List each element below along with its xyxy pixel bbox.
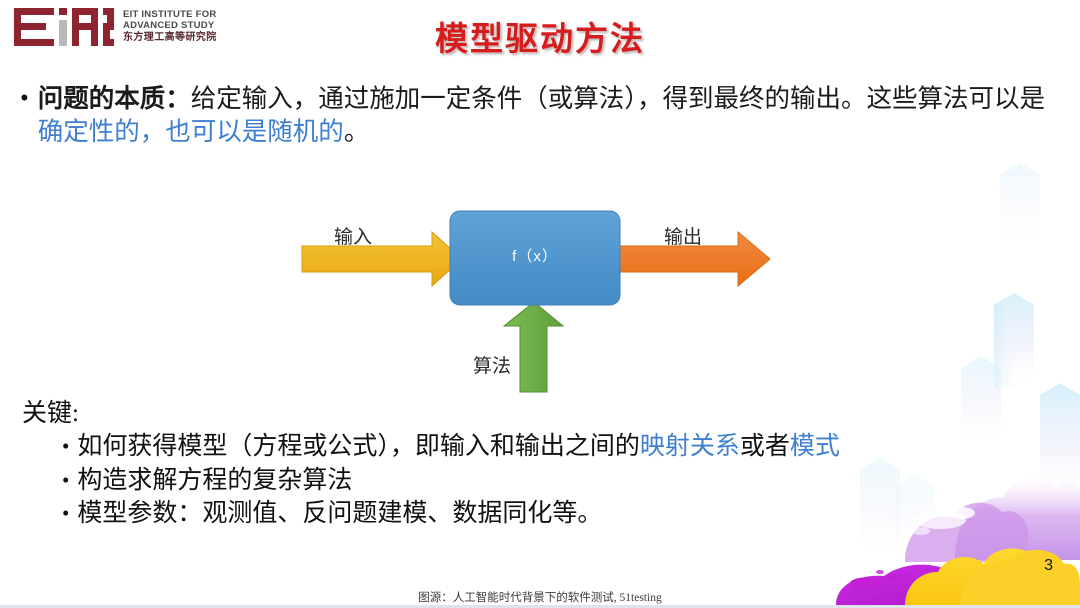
slide: EIT INSTITUTE FOR ADVANCED STUDY 东方理工高等研… bbox=[0, 0, 1080, 608]
top-bullet-lead: 问题的本质： bbox=[38, 84, 191, 113]
top-bullet-highlight-2: 随机的 bbox=[267, 117, 344, 146]
list-item-text: 模型参数：观测值、反问题建模、数据同化等。 bbox=[77, 497, 602, 531]
bullet-marker: • bbox=[20, 82, 29, 115]
list-item-marker: • bbox=[62, 497, 69, 531]
function-box-label: f（x） bbox=[450, 211, 620, 303]
key-points-heading: 关键: bbox=[22, 398, 1062, 430]
slide-title: 模型驱动方法 bbox=[0, 12, 1080, 60]
top-bullet-seg3: 。 bbox=[344, 117, 370, 146]
list-item-highlight-1: 映射关系 bbox=[640, 433, 740, 460]
source-caption: 图源：人工智能时代背景下的软件测试, 51testing bbox=[0, 589, 1080, 605]
list-item-highlight-2: 模式 bbox=[790, 433, 840, 460]
model-flow-diagram: f（x） 输入 输出 算法 bbox=[0, 196, 1080, 396]
top-bullet-text: 问题的本质：给定输入，通过施加一定条件（或算法），得到最终的输出。这些算法可以是… bbox=[38, 82, 1060, 148]
list-item-marker: • bbox=[62, 430, 69, 464]
list-item-text: 构造求解方程的复杂算法 bbox=[77, 464, 352, 498]
top-bullet-seg1: 给定输入，通过施加一定条件（或算法），得到最终的输出。这些算法可以是 bbox=[191, 84, 1045, 113]
list-item-marker: • bbox=[62, 464, 69, 498]
page-number: 3 bbox=[1044, 557, 1053, 575]
list-item-seg1: 如何获得模型（方程或公式），即输入和输出之间的 bbox=[77, 433, 640, 460]
top-bullet-paragraph: • 问题的本质：给定输入，通过施加一定条件（或算法），得到最终的输出。这些算法可… bbox=[20, 82, 1060, 148]
algorithm-label: 算法 bbox=[473, 351, 511, 378]
key-points-block: 关键: • 如何获得模型（方程或公式），即输入和输出之间的映射关系或者模式 • … bbox=[22, 398, 1062, 531]
algorithm-arrow-icon bbox=[504, 302, 563, 392]
list-item: • 如何获得模型（方程或公式），即输入和输出之间的映射关系或者模式 bbox=[62, 430, 1062, 464]
list-item: • 模型参数：观测值、反问题建模、数据同化等。 bbox=[62, 497, 1062, 531]
input-label: 输入 bbox=[334, 222, 372, 249]
input-arrow-icon bbox=[302, 232, 462, 286]
function-box-overlay: f（x） bbox=[450, 211, 620, 303]
list-item-text: 如何获得模型（方程或公式），即输入和输出之间的映射关系或者模式 bbox=[77, 430, 840, 464]
list-item: • 构造求解方程的复杂算法 bbox=[62, 464, 1062, 498]
list-item-seg2: 或者 bbox=[740, 433, 790, 460]
list-item-seg1: 构造求解方程的复杂算法 bbox=[77, 467, 352, 494]
top-bullet-seg2: ，也可以是 bbox=[140, 117, 268, 146]
top-bullet-highlight-1: 确定性的 bbox=[38, 117, 140, 146]
output-label: 输出 bbox=[664, 222, 702, 249]
list-item-seg1: 模型参数：观测值、反问题建模、数据同化等。 bbox=[77, 500, 602, 527]
